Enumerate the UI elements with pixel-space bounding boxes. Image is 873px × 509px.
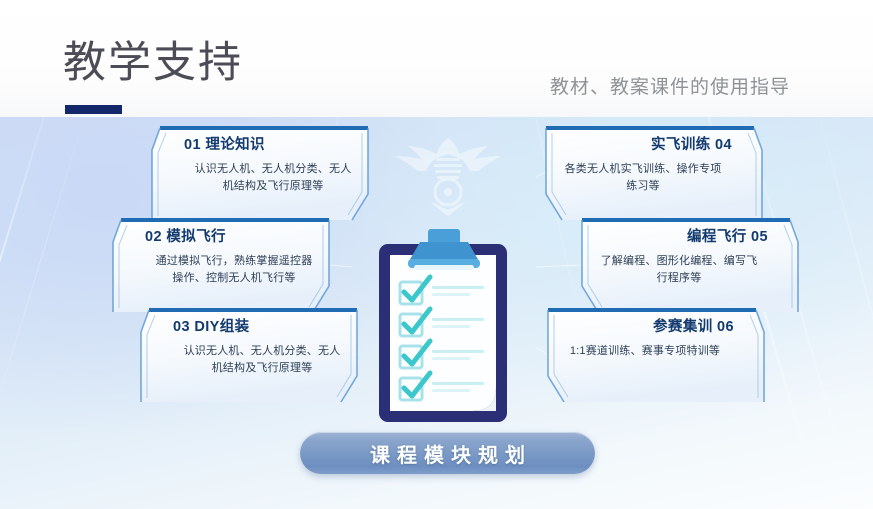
slide-header: 教学支持 教材、教案课件的使用指导	[0, 0, 873, 117]
winged-emblem-watermark-icon	[392, 124, 504, 216]
card-title: 参赛集训 06	[562, 319, 750, 336]
card-body: 通过模拟飞行，熟练掌握遥控器操作、控制无人机飞行等	[127, 253, 315, 287]
title-underline-bar	[65, 105, 122, 114]
module-card-06[interactable]: 参赛集训 06 1:1赛道训练、赛事专项特训等	[548, 310, 764, 402]
page-subtitle: 教材、教案课件的使用指导	[550, 72, 790, 99]
module-card-03[interactable]: 03 DIY组装 认识无人机、无人机分类、无人机结构及飞行原理等	[141, 310, 357, 402]
module-card-01[interactable]: 01 理论知识 认识无人机、无人机分类、无人机结构及飞行原理等	[152, 128, 368, 220]
card-title: 01 理论知识	[166, 137, 354, 154]
card-title: 02 模拟飞行	[127, 229, 315, 246]
clipboard-checklist-icon	[370, 229, 516, 424]
module-card-05[interactable]: 编程飞行 05 了解编程、图形化编程、编写飞行程序等	[582, 220, 798, 312]
slide-body: 01 理论知识 认识无人机、无人机分类、无人机结构及飞行原理等 02 模拟飞行 …	[0, 117, 873, 509]
module-card-02[interactable]: 02 模拟飞行 通过模拟飞行，熟练掌握遥控器操作、控制无人机飞行等	[113, 220, 329, 312]
course-module-banner[interactable]: 课程模块规划	[300, 432, 595, 474]
module-card-04[interactable]: 实飞训练 04 各类无人机实飞训练、操作专项练习等	[546, 128, 762, 220]
card-body: 各类无人机实飞训练、操作专项练习等	[560, 161, 748, 195]
card-body: 1:1赛道训练、赛事专项特训等	[562, 343, 750, 360]
card-title: 03 DIY组装	[155, 319, 343, 336]
card-title: 编程飞行 05	[596, 229, 784, 246]
banner-label: 课程模块规划	[363, 439, 532, 468]
card-title: 实飞训练 04	[560, 137, 748, 154]
slide-root: 教学支持 教材、教案课件的使用指导	[0, 0, 873, 509]
card-body: 认识无人机、无人机分类、无人机结构及飞行原理等	[166, 161, 354, 195]
card-body: 认识无人机、无人机分类、无人机结构及飞行原理等	[155, 343, 343, 377]
card-body: 了解编程、图形化编程、编写飞行程序等	[596, 253, 784, 287]
page-title: 教学支持	[63, 42, 243, 85]
